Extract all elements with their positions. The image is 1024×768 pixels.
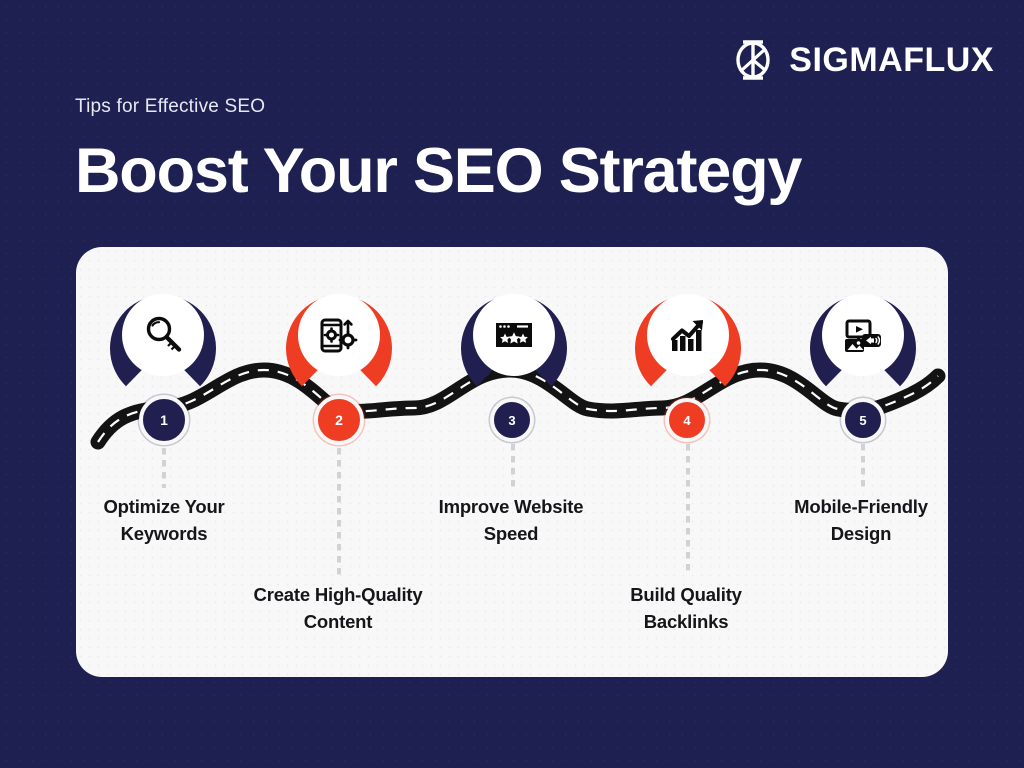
step-label-2-line2: Content: [222, 609, 454, 636]
step-label-4-line2: Backlinks: [586, 609, 786, 636]
page-title: Boost Your SEO Strategy: [75, 137, 801, 206]
step-marker-number-3: 3: [508, 413, 515, 428]
step-marker-5[interactable]: 5: [841, 398, 885, 442]
eyebrow-text: Tips for Effective SEO: [75, 96, 265, 118]
step-label-5: Mobile-Friendly Design: [761, 494, 961, 548]
step-marker-number-5: 5: [859, 413, 866, 428]
step-label-3: Improve Website Speed: [411, 494, 611, 548]
connector-3: [511, 444, 515, 488]
step-icon-container-1: [122, 294, 204, 376]
step-badge-2[interactable]: [281, 277, 397, 393]
step-marker-1[interactable]: 1: [139, 395, 189, 445]
step-label-1-line2: Keywords: [64, 521, 264, 548]
step-label-3-line2: Speed: [411, 521, 611, 548]
connector-2: [337, 448, 341, 576]
step-marker-2[interactable]: 2: [314, 395, 364, 445]
step-badge-3[interactable]: [456, 277, 572, 393]
connector-1: [162, 448, 166, 488]
step-badge-5[interactable]: [805, 277, 921, 393]
brand-logo: SIGMAFLUX: [729, 36, 994, 84]
step-badge-1[interactable]: [105, 277, 221, 393]
step-label-2-line1: Create High-Quality: [222, 582, 454, 609]
step-label-4-line1: Build Quality: [586, 582, 786, 609]
magnifying-glass-icon: [140, 312, 186, 358]
step-icon-container-2: [298, 294, 380, 376]
step-marker-4[interactable]: 4: [665, 398, 709, 442]
sigmaflux-monogram-icon: [729, 36, 777, 84]
step-marker-number-2: 2: [335, 412, 343, 428]
step-label-2: Create High-Quality Content: [222, 582, 454, 636]
step-label-1: Optimize Your Keywords: [64, 494, 264, 548]
step-label-5-line2: Design: [761, 521, 961, 548]
step-label-1-line1: Optimize Your: [64, 494, 264, 521]
growth-chart-icon: [665, 312, 711, 358]
step-marker-3[interactable]: 3: [490, 398, 534, 442]
brand-name: SIGMAFLUX: [789, 43, 994, 77]
step-marker-number-4: 4: [683, 413, 690, 428]
step-label-4: Build Quality Backlinks: [586, 582, 786, 636]
step-icon-container-3: [473, 294, 555, 376]
connector-4: [686, 444, 690, 576]
step-label-5-line1: Mobile-Friendly: [761, 494, 961, 521]
step-marker-number-1: 1: [160, 412, 168, 428]
step-badge-4[interactable]: [630, 277, 746, 393]
step-icon-container-4: [647, 294, 729, 376]
step-icon-container-5: [822, 294, 904, 376]
mobile-gears-icon: [316, 312, 362, 358]
browser-stars-icon: [491, 312, 537, 358]
media-megaphone-icon: [840, 312, 886, 358]
step-label-3-line1: Improve Website: [411, 494, 611, 521]
connector-5: [861, 444, 865, 488]
